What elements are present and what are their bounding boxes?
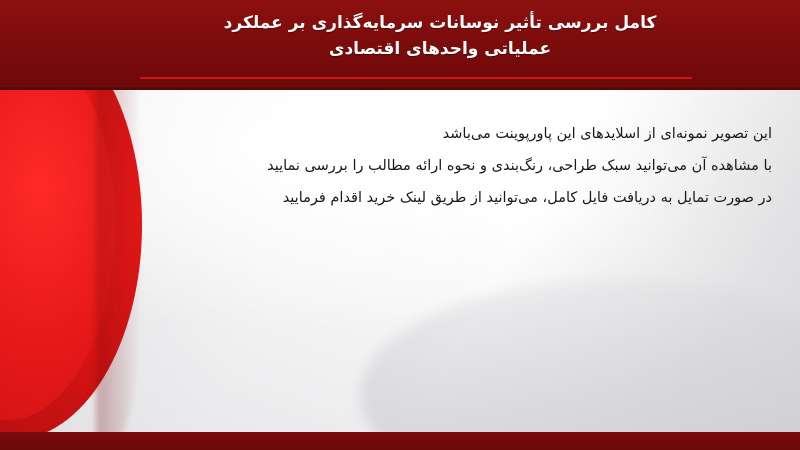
body-line-1: این تصویر نمونه‌ای از اسلایدهای این پاور…	[60, 118, 772, 150]
slide-canvas: کامل بررسی تأثیر نوسانات سرمایه‌گذاری بر…	[0, 0, 800, 450]
body-line-3: در صورت تمایل به دریافت فایل کامل، می‌تو…	[60, 182, 772, 214]
slide-title-line-2: عملیاتی واحدهای اقتصادی	[120, 36, 760, 62]
footer-band	[0, 432, 800, 450]
slide-body: این تصویر نمونه‌ای از اسلایدهای این پاور…	[60, 118, 772, 214]
title-underline-rule	[140, 77, 692, 79]
slide-title: کامل بررسی تأثیر نوسانات سرمایه‌گذاری بر…	[120, 10, 760, 62]
slide-title-line-1: کامل بررسی تأثیر نوسانات سرمایه‌گذاری بر…	[120, 10, 760, 36]
body-line-2: با مشاهده آن می‌توانید سبک طراحی، رنگ‌بن…	[60, 150, 772, 182]
